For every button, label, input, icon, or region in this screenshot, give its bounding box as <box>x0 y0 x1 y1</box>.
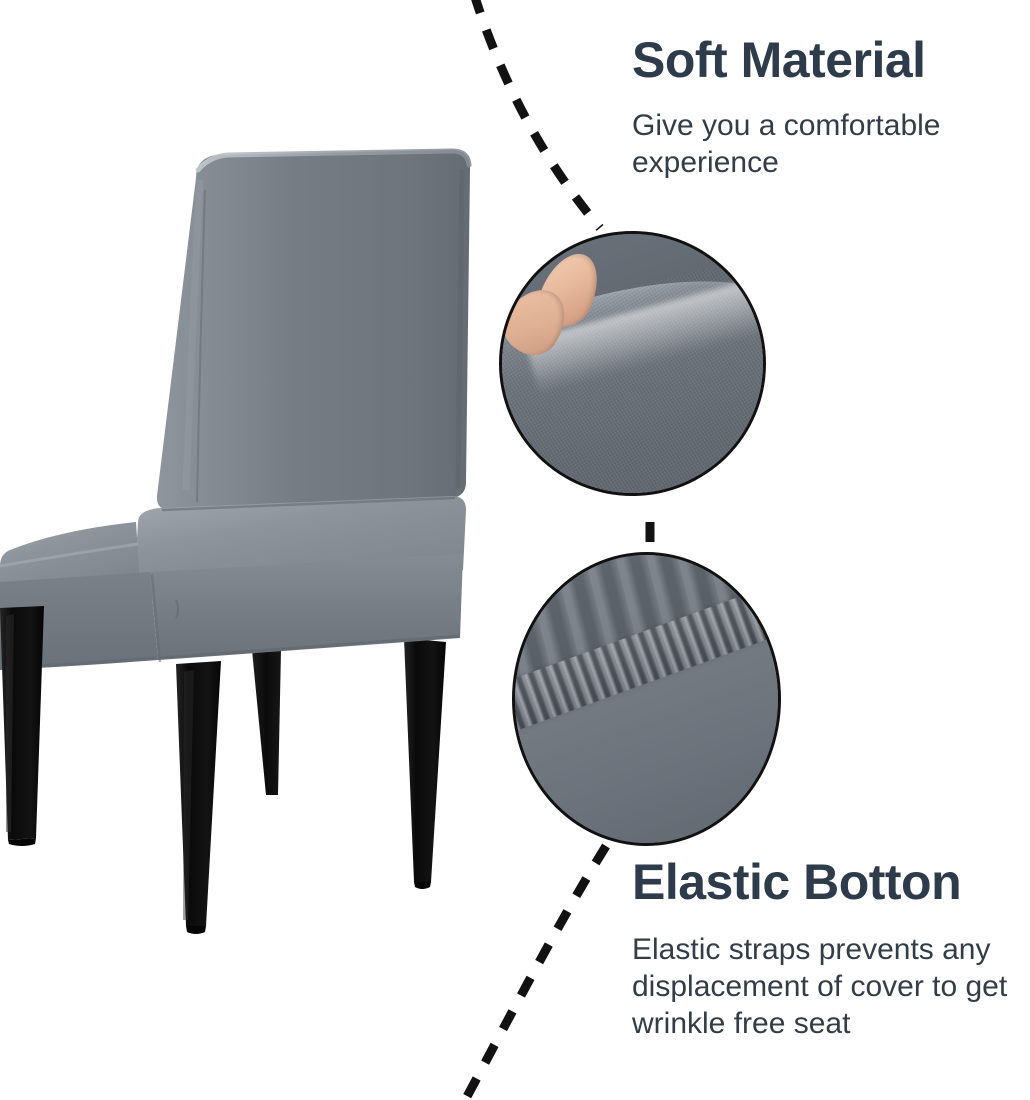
chair-leg-rear-middle <box>252 650 281 795</box>
feature-title-soft-material: Soft Material <box>632 34 1024 86</box>
feature-block-elastic-bottom: Elastic Botton Elastic straps prevents a… <box>632 856 1030 1043</box>
soft-material-inset-image <box>502 234 763 493</box>
chair-illustration <box>0 130 500 940</box>
chair-leg-front-left <box>0 606 44 846</box>
elastic-bottom-inset-image <box>515 555 778 843</box>
chair-leg-rear-right <box>404 638 446 889</box>
chair-leg-front-middle <box>176 661 221 934</box>
detail-circle-soft-material <box>499 231 766 496</box>
feature-description-soft-material: Give you a comfortable experience <box>632 108 992 182</box>
feature-block-soft-material: Soft Material Give you a comfortable exp… <box>632 34 1024 182</box>
feature-description-elastic-bottom: Elastic straps prevents any displacement… <box>632 932 1030 1043</box>
feature-title-elastic-bottom: Elastic Botton <box>632 856 1030 908</box>
chair-backrest-cover <box>157 150 470 510</box>
detail-circle-elastic-bottom <box>512 552 781 846</box>
infographic-canvas: Soft Material Give you a comfortable exp… <box>0 0 1030 1100</box>
